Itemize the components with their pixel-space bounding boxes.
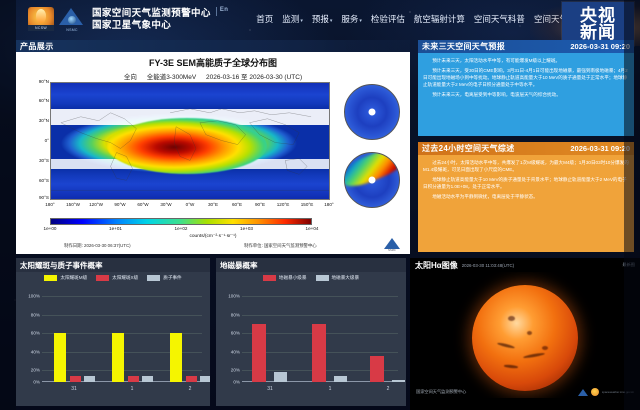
past-24h-review-panel[interactable]: 过去24小时空间天气综述 2026-03-31 09:20 过去24小时，太阳活… — [418, 142, 634, 252]
colorbar-ticks: 1e+00 1e+01 1e+02 1e+03 1e+04 — [50, 226, 312, 234]
flare-y-tick-20: 20% — [20, 368, 40, 373]
flare-proton-probability-chart[interactable]: 太阳耀斑与质子事件概率 太阳耀斑M级 太阳耀斑X级 质子事件 0% 20% 40… — [16, 258, 210, 406]
flare-chart-title: 太阳耀斑与质子事件概率 — [20, 260, 103, 271]
main-nav: 首页 监测▾ 预报▾ 服务▾ 检验评估 航空辐射计算 空间天气科普 空间天气科普 — [256, 13, 585, 25]
solar-panel-title: 太阳Hα图像 — [415, 260, 458, 271]
flare-chart-legend: 太阳耀斑M级 太阳耀斑X级 质子事件 — [16, 272, 210, 284]
x-tick-150w: 150°W — [66, 202, 80, 207]
colorbar-unit-label: counts/(cm⁻²·s⁻¹·sr⁻¹) — [16, 234, 410, 239]
chevron-down-icon: ▾ — [300, 18, 303, 24]
x-tick-90e: 90°E — [255, 202, 265, 207]
review-paragraph-3: 地磁活动水平为平静到微扰，电离层处于平静状态。 — [423, 193, 629, 200]
x-tick-120w: 120°W — [89, 202, 103, 207]
flare-x-tick-31: 31 — [71, 386, 77, 392]
legend-label-minor-storm: 地磁暴小级暴 — [279, 275, 307, 281]
geomag-y-tick-20: 20% — [220, 368, 240, 373]
x-tick-30w: 30°W — [160, 202, 171, 207]
y-tick-60s: 60°S — [32, 178, 49, 183]
solar-image-timestamp: 2026-03-30 11:03:48(UTC) — [462, 263, 514, 268]
geomag-y-tick-40: 40% — [220, 350, 240, 355]
solar-image-stage: 国家空间天气监测预警中心 spaceweather.cma.gov.cn — [410, 272, 640, 398]
bar-flare-x-31 — [70, 376, 81, 382]
review-paragraph-2: 地球静止轨道高能量大于10 MeV的质子通量处于背景水平；地球静止轨道能量大于2… — [423, 176, 629, 190]
flare-chart-plot: 0% 20% 40% 60% 80% 100% 31 1 2 — [20, 288, 206, 396]
flare-y-tick-60: 60% — [20, 331, 40, 336]
bar-proton-31 — [84, 376, 95, 382]
y-tick-30s: 30°S — [32, 158, 49, 163]
nsmc-logo-caption: NSMC — [59, 28, 85, 32]
site-header: NCSW NSMC 国家空间天气监测预警中心En 国家卫星气象中心 首页 监测▾… — [0, 0, 640, 38]
colorbar-tick-1e3: 1e+03 — [240, 226, 253, 231]
ncsw-logo-caption: NCSW — [28, 25, 54, 31]
solar-footer-unit: 国家空间天气监测预警中心 — [416, 389, 466, 395]
x-tick-60e: 60°E — [232, 202, 242, 207]
geomag-chart-plot: 0% 20% 40% 60% 80% 100% 31 1 2 — [220, 288, 402, 396]
bar-major-storm-2 — [392, 380, 405, 382]
flare-x-tick-2: 2 — [189, 386, 192, 392]
geomag-y-tick-80: 80% — [220, 313, 240, 318]
logo-group: NCSW NSMC — [28, 7, 85, 31]
legend-swatch-proton — [147, 275, 160, 281]
map-plot-area — [50, 82, 330, 200]
y-tick-90n: 90°N — [32, 79, 49, 84]
three-day-forecast-panel[interactable]: 未来三天空间天气预报 2026-03-31 09:20 预计未来三天，太阳活动水… — [418, 40, 634, 136]
chart-title: FY-3E SEM高能质子全球分布图 — [16, 56, 410, 69]
bar-minor-storm-31 — [252, 324, 266, 382]
legend-item-flare-x: 太阳耀斑X级 — [96, 275, 138, 281]
bar-minor-storm-2 — [370, 356, 384, 382]
left-edge-shade — [0, 0, 16, 410]
legend-swatch-flare-x — [96, 275, 109, 281]
nav-item-forecast[interactable]: 预报▾ — [312, 13, 333, 25]
geomag-y-tick-60: 60% — [220, 331, 240, 336]
flare-y-tick-0: 0% — [20, 380, 40, 385]
x-tick-120e: 120°E — [277, 202, 290, 207]
review-panel-body: 过去24小时，太阳活动水平中等，共爆发了1次M级耀斑，为最大M4级；1月30日0… — [418, 155, 634, 252]
legend-item-proton: 质子事件 — [147, 275, 181, 281]
polar-projection-insets[interactable] — [338, 82, 404, 212]
right-edge-shade — [624, 0, 640, 410]
product-chart-card[interactable]: FY-3E SEM高能质子全球分布图 全向 全能道3-300MeV 2026-0… — [16, 52, 410, 254]
solar-panel-footer: 国家空间天气监测预警中心 spaceweather.cma.gov.cn — [410, 388, 640, 396]
y-tick-30n: 30°N — [32, 118, 49, 123]
org-title: 国家空间天气监测预警中心En 国家卫星气象中心 — [92, 7, 228, 32]
coastline-overlay — [51, 83, 329, 200]
south-polar-projection-plot — [344, 152, 400, 208]
y-tick-60n: 60°N — [32, 98, 49, 103]
legend-label-proton: 质子事件 — [163, 275, 181, 281]
sun-disk-image — [472, 285, 578, 391]
bar-major-storm-31 — [274, 372, 287, 382]
geomag-chart-header: 地磁暴概率 — [216, 258, 406, 272]
solar-halpha-panel[interactable]: 太阳Hα图像 2026-03-30 11:03:48(UTC) 最新图 国家空间… — [410, 258, 640, 410]
geomag-chart-legend: 地磁暴小级暴 地磁暴大级暴 — [216, 272, 406, 284]
flare-chart-header: 太阳耀斑与质子事件概率 — [16, 258, 210, 272]
forecast-panel-title: 未来三天空间天气预报 — [422, 41, 505, 52]
credit-logo-caption: NSMC — [382, 249, 402, 252]
colorbar-tick-1e4: 1e+04 — [306, 226, 319, 231]
geomag-chart-title: 地磁暴概率 — [220, 260, 258, 271]
review-panel-title: 过去24小时空间天气综述 — [422, 143, 515, 154]
y-tick-0: 0° — [32, 138, 49, 143]
forecast-panel-body: 预计未来三天，太阳活动水平中等，有可能爆发M级以上耀斑。 预计未来三天，受30日… — [418, 53, 634, 136]
global-proton-map[interactable]: 90°N 60°N 30°N 0° 30°S 60°S 90°S — [32, 82, 330, 210]
bar-flare-x-2 — [186, 376, 197, 382]
chart-sub-channel: 全能道3-300MeV — [147, 74, 197, 81]
credit-nsmc-logo-icon: NSMC — [382, 238, 402, 253]
x-tick-150e: 150°E — [301, 202, 314, 207]
nav-item-home[interactable]: 首页 — [256, 13, 273, 25]
bar-flare-m-2 — [170, 333, 182, 382]
forecast-panel-header: 未来三天空间天气预报 2026-03-31 09:20 — [418, 40, 634, 53]
x-tick-60w: 60°W — [137, 202, 148, 207]
legend-label-major-storm: 地磁暴大级暴 — [332, 275, 360, 281]
geomagnetic-storm-probability-chart[interactable]: 地磁暴概率 地磁暴小级暴 地磁暴大级暴 0% 20% 40% 60% 80% 1… — [216, 258, 406, 406]
colorbar — [50, 218, 312, 225]
nav-item-space-weather-science[interactable]: 空间天气科普 — [474, 13, 525, 25]
language-switch-en[interactable]: En — [220, 7, 228, 15]
watermark-line-1: 央视 — [580, 7, 616, 24]
org-line-1: 国家空间天气监测预警中心 — [92, 8, 211, 19]
chart-subtitle: 全向 全能道3-300MeV 2026-03-16 至 2026-03-30 (… — [16, 71, 410, 81]
bar-major-storm-1 — [334, 376, 347, 382]
geomag-y-tick-0: 0% — [220, 380, 240, 385]
nav-item-service[interactable]: 服务▾ — [341, 13, 362, 25]
legend-swatch-major-storm — [316, 275, 329, 281]
solar-panel-header: 太阳Hα图像 2026-03-30 11:03:48(UTC) 最新图 — [410, 258, 640, 272]
nav-item-aviation-radiation[interactable]: 航空辐射计算 — [414, 13, 465, 25]
legend-item-minor-storm: 地磁暴小级暴 — [263, 275, 307, 281]
org-line-2: 国家卫星气象中心 — [92, 20, 228, 32]
bar-proton-2 — [200, 376, 210, 382]
bar-flare-x-1 — [128, 376, 139, 382]
forecast-paragraph-3: 预计未来三天，电离层受到中等影响，电波层天气的综合扰动。 — [423, 91, 629, 98]
bar-proton-1 — [142, 376, 153, 382]
page-root: NCSW NSMC 国家空间天气监测预警中心En 国家卫星气象中心 首页 监测▾… — [0, 0, 640, 410]
legend-item-major-storm: 地磁暴大级暴 — [316, 275, 360, 281]
x-tick-30e: 30°E — [208, 202, 218, 207]
chart-sub-direction: 全向 — [124, 74, 137, 81]
flare-y-tick-100: 100% — [20, 294, 40, 299]
review-paragraph-1: 过去24小时，太阳活动水平中等，共爆发了1次M级耀斑，为最大M4级；1月30日0… — [423, 159, 629, 173]
forecast-paragraph-2: 预计未来三天，受30日的CME影响，3月31日-4月1日可能出现地磁暴，最强到南… — [423, 67, 629, 88]
nav-item-verification[interactable]: 检验评估 — [371, 13, 405, 25]
watermark-line-2: 新闻 — [580, 24, 616, 42]
credit-made-date: 制作日期: 2026-03-30 06:37(UTC) — [64, 243, 131, 249]
review-panel-date: 2026-03-31 09:20 — [570, 144, 630, 153]
legend-label-flare-m: 太阳耀斑M级 — [60, 275, 87, 281]
forecast-panel-date: 2026-03-31 09:20 — [570, 42, 630, 51]
x-tick-180e: 180° — [324, 202, 334, 207]
geomag-x-tick-1: 1 — [329, 386, 332, 392]
geomag-x-tick-2: 2 — [387, 386, 390, 392]
legend-swatch-flare-m — [44, 275, 57, 281]
forecast-paragraph-1: 预计未来三天，太阳活动水平中等，有可能爆发M级以上耀斑。 — [423, 57, 629, 64]
geomag-y-tick-100: 100% — [220, 294, 240, 299]
product-display-panel: 产品展示 FY-3E SEM高能质子全球分布图 全向 全能道3-300MeV 2… — [16, 40, 410, 254]
x-tick-90w: 90°W — [114, 202, 125, 207]
bar-flare-m-31 — [54, 333, 66, 382]
ncsw-logo-icon: NCSW — [28, 7, 54, 31]
ncsw-small-logo-icon — [591, 388, 599, 396]
nsmc-logo-icon: NSMC — [59, 7, 85, 31]
chevron-down-icon: ▾ — [330, 18, 333, 24]
colorbar-tick-1e1: 1e+01 — [109, 226, 122, 231]
colorbar-tick-1e2: 1e+02 — [175, 226, 188, 231]
geomag-x-tick-31: 31 — [267, 386, 273, 392]
x-tick-180w: 180° — [45, 202, 55, 207]
product-panel-titlebar: 产品展示 — [16, 40, 410, 52]
x-tick-0: 0°W — [186, 202, 195, 207]
chevron-down-icon: ▾ — [359, 18, 362, 24]
nsmc-small-logo-icon — [578, 389, 588, 396]
legend-item-flare-m: 太阳耀斑M级 — [44, 275, 87, 281]
legend-label-flare-x: 太阳耀斑X级 — [112, 275, 138, 281]
north-polar-projection-plot — [344, 84, 400, 140]
y-tick-90s: 90°S — [32, 195, 49, 200]
flare-y-tick-80: 80% — [20, 313, 40, 318]
colorbar-tick-1e0: 1e+00 — [44, 226, 57, 231]
flare-y-tick-40: 40% — [20, 350, 40, 355]
bar-flare-m-1 — [112, 333, 124, 382]
credit-made-unit: 制作单位: 国家空间天气监测预警中心 — [244, 243, 317, 249]
chart-sub-range: 2026-03-16 至 2026-03-30 (UTC) — [206, 74, 302, 81]
product-panel-title: 产品展示 — [20, 41, 54, 52]
flare-x-tick-1: 1 — [131, 386, 134, 392]
bar-minor-storm-1 — [312, 324, 326, 382]
review-panel-header: 过去24小时空间天气综述 2026-03-31 09:20 — [418, 142, 634, 155]
nav-item-monitoring[interactable]: 监测▾ — [282, 13, 303, 25]
legend-swatch-minor-storm — [263, 275, 276, 281]
